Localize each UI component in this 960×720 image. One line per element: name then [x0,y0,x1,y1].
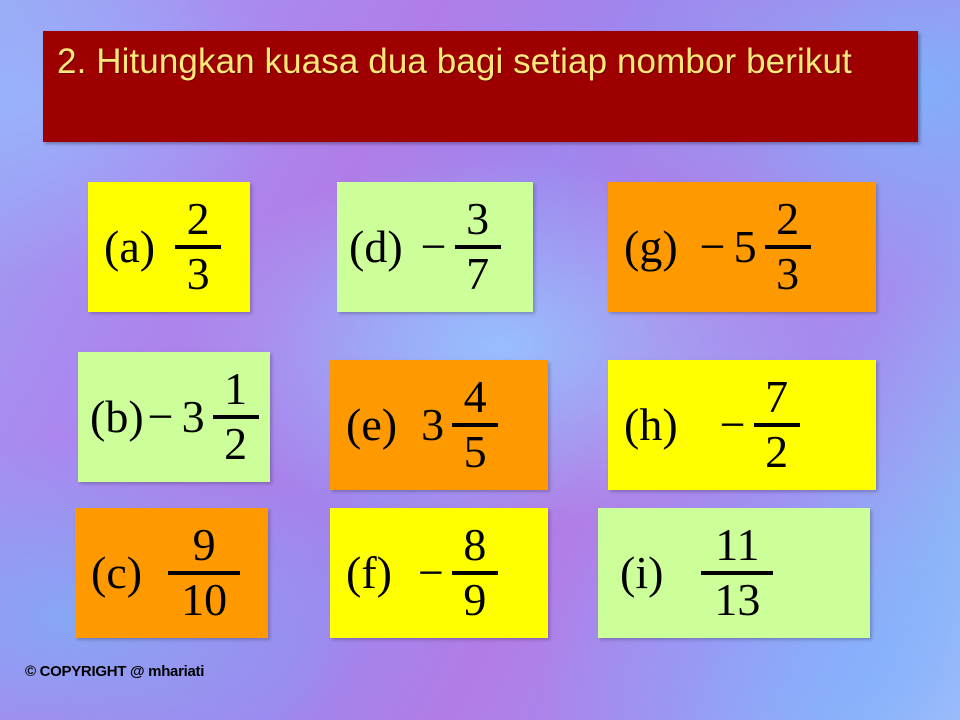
page-title: 2. Hitungkan kuasa dua bagi setiap nombo… [57,38,918,86]
fraction-box: (f)−89 [330,508,548,638]
item-label: (f) [346,550,392,596]
fraction-box: (b)−312 [78,352,270,482]
minus-sign: − [148,394,174,440]
item-label: (c) [91,550,142,596]
minus-sign: − [700,224,726,270]
fraction-box: (h)−72 [608,360,876,490]
fraction-numerator: 11 [709,522,765,569]
fraction-numerator: 2 [770,196,805,243]
fraction: 89 [452,522,498,624]
slide-canvas: 2. Hitungkan kuasa dua bagi setiap nombo… [0,0,960,720]
fraction-numerator: 3 [460,196,495,243]
fraction-box: (c)910 [75,508,268,638]
fraction: 12 [213,366,259,468]
fraction-denominator: 10 [175,577,233,624]
item-label: (b) [90,394,144,440]
minus-sign: − [421,224,447,270]
fraction-box: (g)−523 [608,182,876,312]
fraction-numerator: 1 [218,366,253,413]
fraction-numerator: 9 [187,522,222,569]
fraction-box: (i)1113 [598,508,870,638]
fraction-numerator: 8 [457,522,492,569]
fraction-box: (d)−37 [337,182,533,312]
fraction: 37 [455,196,501,298]
item-label: (e) [346,402,397,448]
item-label: (g) [624,224,678,270]
copyright-notice: © COPYRIGHT @ mhariati [25,663,204,680]
minus-sign: − [418,550,444,596]
fraction-numerator: 2 [181,196,216,243]
fraction: 1113 [701,522,773,624]
fraction-numerator: 4 [458,374,493,421]
item-label: (i) [620,550,663,596]
fraction-denominator: 3 [770,251,805,298]
item-label: (d) [349,224,403,270]
item-label: (a) [104,224,155,270]
fraction-denominator: 9 [457,577,492,624]
fraction-denominator: 13 [708,577,766,624]
whole-number: 5 [734,224,757,270]
whole-number: 3 [421,402,444,448]
fraction: 23 [175,196,221,298]
fraction-denominator: 5 [458,429,493,476]
whole-number: 3 [182,394,205,440]
fraction-denominator: 2 [218,421,253,468]
fraction: 23 [765,196,811,298]
fraction-denominator: 2 [759,429,794,476]
title-bar: 2. Hitungkan kuasa dua bagi setiap nombo… [43,31,918,142]
fraction: 72 [754,374,800,476]
fraction-box: (a)23 [88,182,250,312]
fraction-numerator: 7 [759,374,794,421]
fraction-denominator: 3 [181,251,216,298]
fraction: 45 [452,374,498,476]
minus-sign: − [720,402,746,448]
fraction-denominator: 7 [460,251,495,298]
item-label: (h) [624,402,678,448]
fraction-box: (e)345 [330,360,548,490]
fraction: 910 [168,522,240,624]
